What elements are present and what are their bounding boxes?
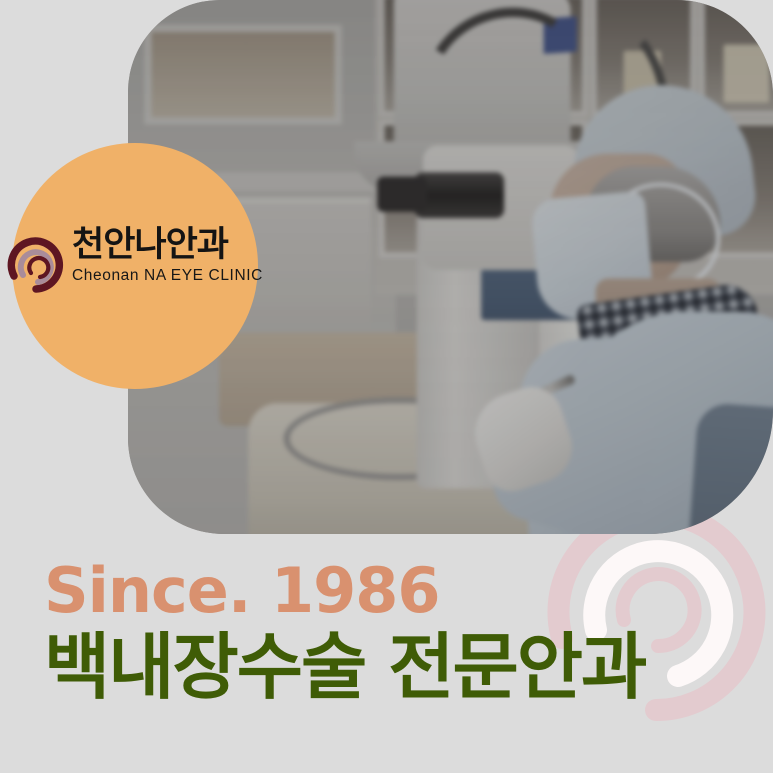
headline: 백내장수술 전문안과 xyxy=(44,630,645,706)
spiral-eye-logo-icon xyxy=(6,235,68,297)
since-label: Since. 1986 xyxy=(44,560,645,622)
clinic-logo-inner: 천안나안과 Cheonan NA EYE CLINIC xyxy=(12,221,258,311)
clinic-name-korean: 천안나안과 xyxy=(72,227,272,264)
clinic-logo-text: 천안나안과 Cheonan NA EYE CLINIC xyxy=(72,227,272,285)
clinic-logo-badge: 천안나안과 Cheonan NA EYE CLINIC xyxy=(12,143,258,389)
marketing-copy: Since. 1986 백내장수술 전문안과 xyxy=(44,560,645,706)
clinic-name-english: Cheonan NA EYE CLINIC xyxy=(72,267,272,285)
promo-card: 천안나안과 Cheonan NA EYE CLINIC Since. 1986 … xyxy=(0,0,773,773)
